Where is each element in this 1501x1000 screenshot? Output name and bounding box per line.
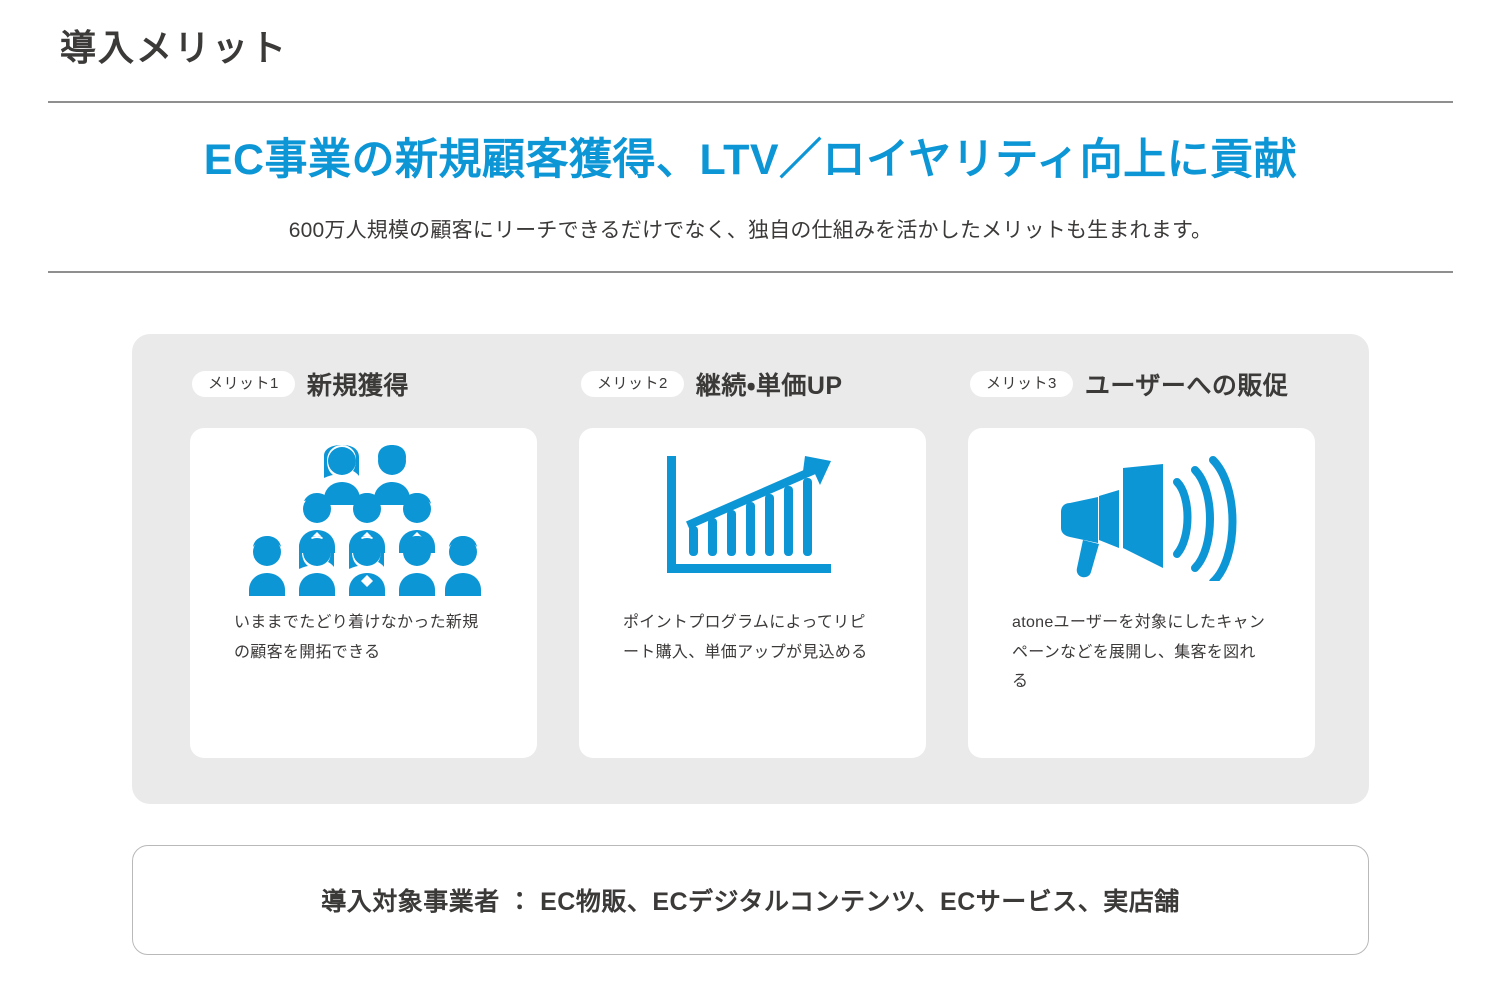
benefit-2-description: ポイントプログラムによってリピート購入、単価アップが見込める <box>579 608 926 667</box>
benefit-card-1: メリット1 新規獲得 <box>190 364 537 758</box>
target-business-banner: 導入対象事業者 ： EC物販、ECデジタルコンテンツ、ECサービス、実店舗 <box>132 845 1369 955</box>
benefit-2-header: メリット2 継続・単価UP <box>579 364 926 404</box>
page-title: 導入メリット <box>60 26 288 69</box>
benefits-panel: メリット1 新規獲得 <box>132 334 1369 804</box>
benefit-2-title: 継続・単価UP <box>696 366 843 402</box>
benefit-1-description: いままでたどり着けなかった新規の顧客を開拓できる <box>190 608 537 667</box>
benefit-card-3: メリット3 ユーザーへの販促 <box>968 364 1315 758</box>
benefit-2-badge: メリット2 <box>581 371 684 397</box>
divider-bottom <box>48 271 1453 273</box>
megaphone-icon <box>968 428 1315 608</box>
slide-root: 導入メリット EC事業の新規顧客獲得、LTV／ロイヤリティ向上に貢献 600万人… <box>0 0 1501 1000</box>
benefit-3-body-card: atoneユーザーを対象にしたキャンペーンなどを展開し、集客を図れる <box>968 428 1315 758</box>
benefit-1-header: メリット1 新規獲得 <box>190 364 537 404</box>
headline-main: EC事業の新規顧客獲得、LTV／ロイヤリティ向上に貢献 <box>0 134 1501 188</box>
divider-top <box>48 101 1453 103</box>
benefit-1-body-card: いままでたどり着けなかった新規の顧客を開拓できる <box>190 428 537 758</box>
benefit-card-list: メリット1 新規獲得 <box>190 364 1315 758</box>
benefit-3-description: atoneユーザーを対象にしたキャンペーンなどを展開し、集客を図れる <box>968 608 1315 697</box>
headline-sub: 600万人規模の顧客にリーチできるだけでなく、独自の仕組みを活かしたメリットも生… <box>0 214 1501 244</box>
benefit-3-header: メリット3 ユーザーへの販促 <box>968 364 1315 404</box>
benefit-2-body-card: ポイントプログラムによってリピート購入、単価アップが見込める <box>579 428 926 758</box>
benefit-1-title: 新規獲得 <box>307 366 409 402</box>
target-business-text: 導入対象事業者 ： EC物販、ECデジタルコンテンツ、ECサービス、実店舗 <box>321 882 1180 918</box>
people-group-icon <box>190 428 537 608</box>
benefit-card-2: メリット2 継続・単価UP <box>579 364 926 758</box>
growth-chart-icon <box>579 428 926 608</box>
benefit-1-badge: メリット1 <box>192 371 295 397</box>
benefit-3-title: ユーザーへの販促 <box>1085 366 1289 402</box>
benefit-3-badge: メリット3 <box>970 371 1073 397</box>
